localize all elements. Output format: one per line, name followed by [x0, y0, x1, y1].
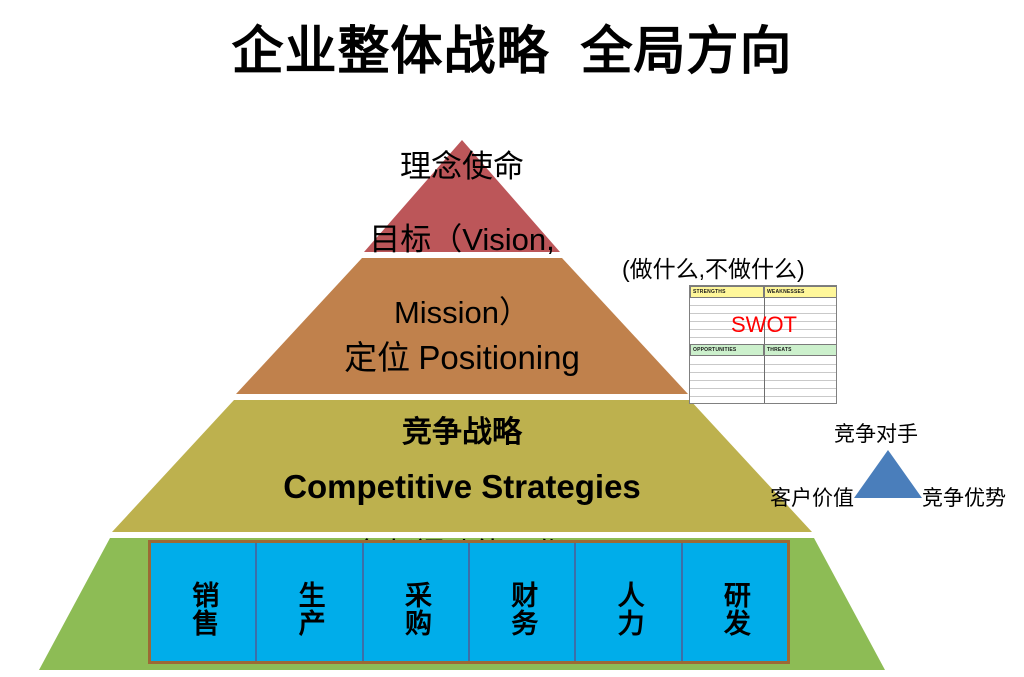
competitive-label-customer-value: 客户价值 — [770, 482, 854, 512]
swot-header-threats: THREATS — [764, 344, 837, 356]
department-cell-rnd[interactable]: 研发 — [683, 543, 787, 661]
swot-header-weaknesses: WEAKNESSES — [764, 286, 837, 298]
competitive-label-competitor: 竞争对手 — [834, 418, 918, 448]
departments-row: 销售 生产 采购 财务 人力 研发 — [148, 540, 790, 664]
competitive-triangle-group: 竞争对手 客户价值 竞争优势 — [760, 412, 1024, 522]
competitive-triangle-icon — [852, 448, 924, 500]
competitive-label-advantage: 竞争优势 — [922, 482, 1006, 512]
department-label: 研发 — [720, 581, 750, 637]
swot-header-strengths: STRENGTHS — [690, 286, 764, 298]
department-label: 销售 — [188, 581, 218, 637]
pyramid-tier-vision-shape — [364, 140, 560, 252]
department-cell-production[interactable]: 生产 — [257, 543, 363, 661]
department-cell-finance[interactable]: 财务 — [470, 543, 576, 661]
department-label: 财务 — [507, 581, 537, 637]
swot-caption: (做什么,不做什么) — [622, 250, 805, 284]
department-label: 人力 — [613, 581, 643, 637]
department-cell-procurement[interactable]: 采购 — [364, 543, 470, 661]
pyramid-tier-positioning-shape — [236, 258, 688, 394]
department-label: 采购 — [401, 581, 431, 637]
department-label: 生产 — [294, 581, 324, 637]
department-cell-sales[interactable]: 销售 — [151, 543, 257, 661]
swot-header-opportunities: OPPORTUNITIES — [690, 344, 764, 356]
pyramid-tier-competitive-shape — [112, 400, 812, 532]
swot-table: STRENGTHS WEAKNESSES OPPORTUNITIES THREA… — [689, 285, 837, 404]
swot-center-label: SWOT — [690, 312, 837, 338]
department-cell-hr[interactable]: 人力 — [576, 543, 682, 661]
